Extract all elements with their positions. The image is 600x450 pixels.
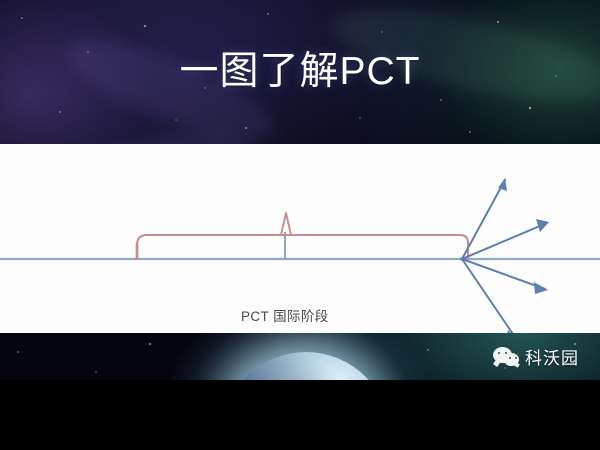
page-title: 一图了解PCT bbox=[0, 52, 600, 91]
pct-phase-bracket bbox=[137, 235, 468, 259]
fan-origin-node bbox=[460, 257, 464, 261]
arrow-1-line bbox=[462, 180, 505, 259]
arrow-2-line bbox=[462, 223, 547, 259]
arrow-4-line bbox=[462, 259, 517, 333]
arrow-2-head bbox=[536, 219, 549, 232]
diagram-panel: PCT 国际阶段 30 申请 提交 PCT 申请 国际公布 进入国家 bbox=[0, 144, 600, 333]
bracket-pointer bbox=[281, 213, 291, 235]
wechat-icon bbox=[493, 347, 520, 367]
arrow-3-head bbox=[534, 282, 548, 294]
pct-phase-label: PCT 国际阶段 bbox=[241, 305, 329, 325]
outcome-label-national-phase: 进入国家 bbox=[529, 330, 585, 333]
letterbox-band bbox=[0, 380, 600, 450]
watermark-text: 科沃园 bbox=[525, 344, 579, 369]
watermark: 科沃园 bbox=[493, 344, 579, 369]
national-phase-arrow-group bbox=[462, 178, 549, 333]
slide-canvas: 一图了解PCT bbox=[0, 0, 600, 450]
arrow-3-line bbox=[462, 259, 545, 289]
